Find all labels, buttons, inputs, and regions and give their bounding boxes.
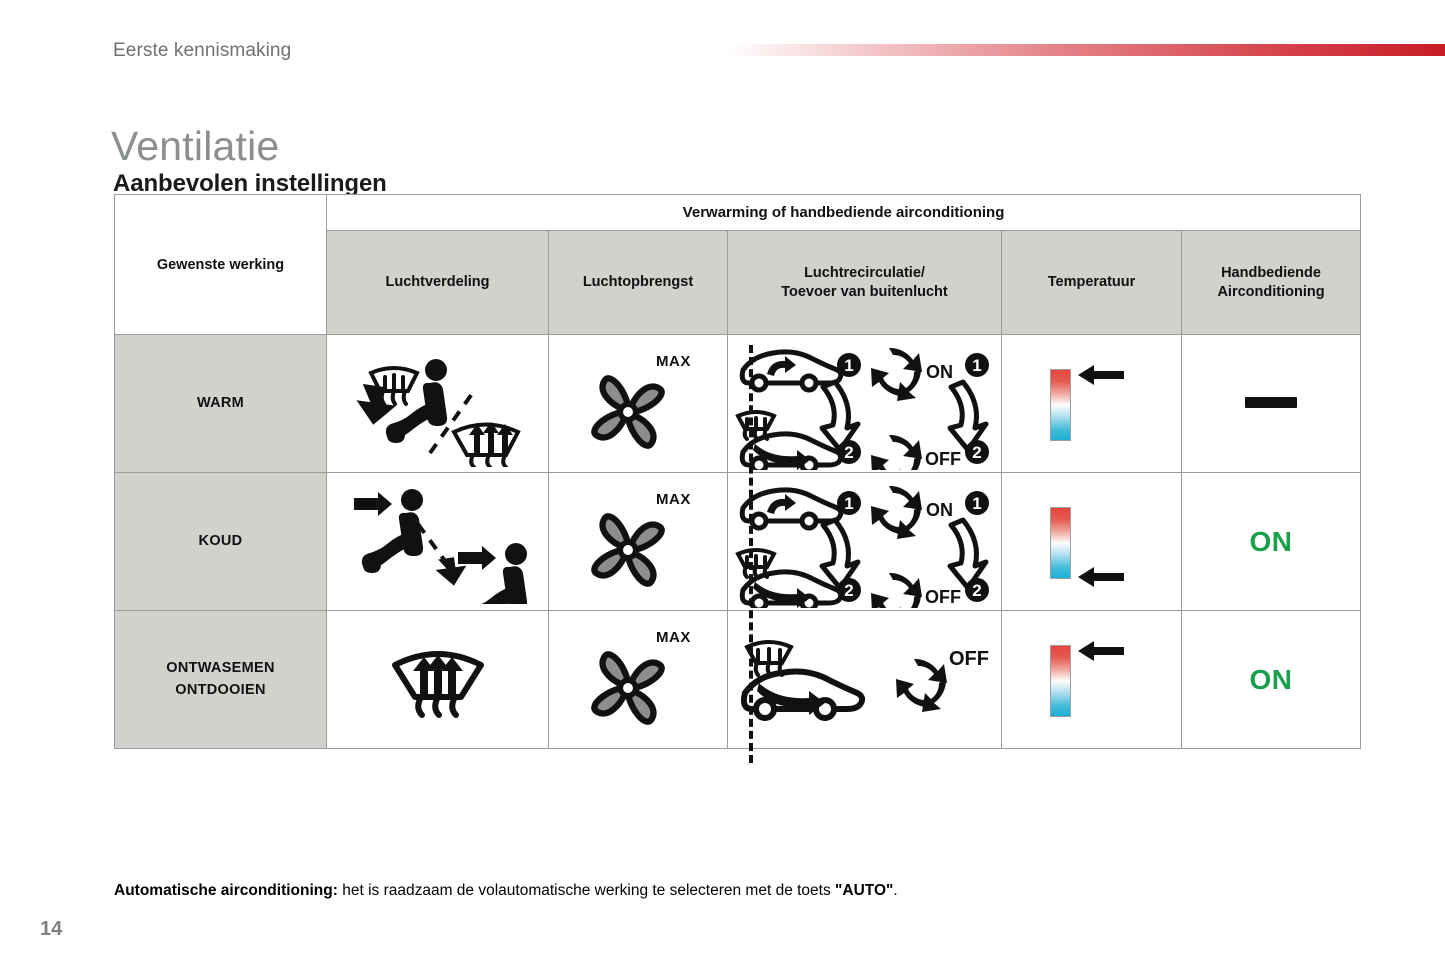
manual-ac-status: ON (1250, 526, 1293, 557)
header-luchtrecirculatie-line1: Luchtrecirculatie/ (728, 264, 1001, 283)
badge-number-1-left: 1 (837, 353, 861, 377)
recirculation-options-group: 1 (728, 473, 1001, 610)
temperature-gradient-bar (1050, 507, 1071, 579)
temperature-setting-warm (1002, 611, 1181, 748)
windscreen-footwell-distribution-icon (327, 335, 548, 472)
row-label-ontdooien-text: ONTDOOIEN (115, 680, 326, 701)
recirculation-cycle-icon-off (896, 658, 947, 711)
row-label-warm: WARM (115, 335, 327, 473)
breadcrumb: Eerste kennismaking (113, 40, 291, 62)
recirculation-cycle-icon-on (871, 485, 922, 538)
arrow-left-icon (1078, 365, 1126, 385)
badge-number-1-right: 1 (965, 491, 989, 515)
header-group-verwarming: Verwarming of handbediende airconditioni… (327, 195, 1361, 231)
header-handbediende-line1: Handbediende (1182, 264, 1360, 283)
header-handbediende-airco: Handbediende Airconditioning (1182, 231, 1361, 335)
cell-manual-ac-demist: ON (1182, 611, 1361, 749)
cell-airflow-demist: MAX (549, 611, 728, 749)
page-number: 14 (40, 918, 62, 941)
dash-icon (1245, 397, 1297, 408)
fan-icon: MAX (549, 335, 727, 472)
badge-number-2-right: 2 (965, 578, 989, 602)
badge-number-1-left: 1 (837, 491, 861, 515)
header-luchtverdeling: Luchtverdeling (327, 231, 549, 335)
page-title: Ventilatie (111, 123, 279, 170)
table-row: WARM (115, 335, 1361, 473)
temperature-setting-warm (1002, 335, 1181, 472)
manual-ac-status: ON (1250, 664, 1293, 695)
header-luchtrecirculatie: Luchtrecirculatie/ Toevoer van buitenluc… (728, 231, 1002, 335)
row-label-ontwasemen-text: ONTWASEMEN (115, 658, 326, 679)
svg-text:2: 2 (972, 443, 981, 462)
airflow-max-label: MAX (656, 353, 691, 370)
cell-airflow-warm: MAX (549, 335, 728, 473)
row-label-ontwasemen: ONTWASEMEN ONTDOOIEN (115, 611, 327, 749)
header-luchtrecirculatie-line2: Toevoer van buitenlucht (728, 283, 1001, 302)
header-temperatuur: Temperatuur (1002, 231, 1182, 335)
row-label-warm-text: WARM (115, 393, 326, 414)
row-label-koud-text: KOUD (115, 531, 326, 552)
footnote-tail: . (893, 882, 897, 899)
header-handbediende-line2: Airconditioning (1182, 283, 1360, 302)
recirculation-off-label: OFF (925, 587, 961, 607)
cell-recirculation-warm: 1 (728, 335, 1002, 473)
cell-manual-ac-koud: ON (1182, 473, 1361, 611)
recommended-settings-table: Gewenste werking Verwarming of handbedie… (114, 194, 1361, 749)
header-group-label: Verwarming of handbediende airconditioni… (683, 204, 1005, 221)
svg-text:1: 1 (972, 494, 981, 513)
recirculation-off-label: OFF (925, 449, 961, 469)
cell-recirculation-koud: 1 (728, 473, 1002, 611)
temperature-gradient-bar (1050, 645, 1071, 717)
temperature-gradient-bar (1050, 369, 1071, 441)
cell-recirculation-demist: OFF (728, 611, 1002, 749)
recirculation-on-label: ON (926, 362, 953, 382)
table-group-header-row: Gewenste werking Verwarming of handbedie… (115, 195, 1361, 231)
badge-number-2-right: 2 (965, 440, 989, 464)
badge-number-2-left: 2 (837, 440, 861, 464)
svg-text:1: 1 (972, 356, 981, 375)
svg-text:2: 2 (972, 581, 981, 600)
footnote: Automatische airconditioning: het is raa… (114, 882, 898, 900)
face-level-distribution-icon (327, 473, 548, 610)
svg-text:2: 2 (844, 443, 853, 462)
fan-icon: MAX (549, 473, 727, 610)
airflow-max-label: MAX (656, 629, 691, 646)
footnote-text: het is raadzaam de volautomatische werki… (338, 882, 835, 899)
badge-number-2-left: 2 (837, 578, 861, 602)
recirculation-options-group: OFF (728, 611, 1001, 748)
header-luchtverdeling-label: Luchtverdeling (386, 274, 490, 290)
fan-icon: MAX (549, 611, 727, 748)
header-temperatuur-label: Temperatuur (1048, 274, 1136, 290)
recirculation-off-label: OFF (949, 648, 989, 670)
header-gewenste-werking-label: Gewenste werking (157, 257, 284, 273)
cell-distribution-demist (327, 611, 549, 749)
svg-text:1: 1 (844, 356, 853, 375)
row-label-koud: KOUD (115, 473, 327, 611)
cell-temperature-koud (1002, 473, 1182, 611)
cell-distribution-warm (327, 335, 549, 473)
recirculation-cycle-icon-off (871, 434, 922, 469)
table-row: KOUD (115, 473, 1361, 611)
accent-rule (728, 44, 1445, 56)
temperature-setting-cold (1002, 473, 1181, 610)
cell-distribution-koud (327, 473, 549, 611)
recirculation-column-divider (749, 345, 753, 763)
arrow-left-icon (1078, 567, 1126, 587)
svg-text:1: 1 (844, 494, 853, 513)
recirculation-options-group: 1 (728, 335, 1001, 472)
windscreen-demist-icon (327, 611, 548, 748)
recirculation-cycle-icon-off (871, 572, 922, 607)
cell-airflow-koud: MAX (549, 473, 728, 611)
footnote-emphasis: "AUTO" (835, 882, 893, 899)
cell-temperature-warm (1002, 335, 1182, 473)
footnote-lead: Automatische airconditioning: (114, 882, 338, 899)
table-row: ONTWASEMEN ONTDOOIEN (115, 611, 1361, 749)
header-gewenste-werking: Gewenste werking (115, 195, 327, 335)
arrow-left-icon (1078, 641, 1126, 661)
recirculation-on-label: ON (926, 500, 953, 520)
badge-number-1-right: 1 (965, 353, 989, 377)
svg-text:2: 2 (844, 581, 853, 600)
cell-manual-ac-warm (1182, 335, 1361, 473)
airflow-max-label: MAX (656, 491, 691, 508)
header-luchtopbrengst: Luchtopbrengst (549, 231, 728, 335)
cell-temperature-demist (1002, 611, 1182, 749)
recirculation-cycle-icon-on (871, 347, 922, 400)
header-luchtopbrengst-label: Luchtopbrengst (583, 274, 693, 290)
